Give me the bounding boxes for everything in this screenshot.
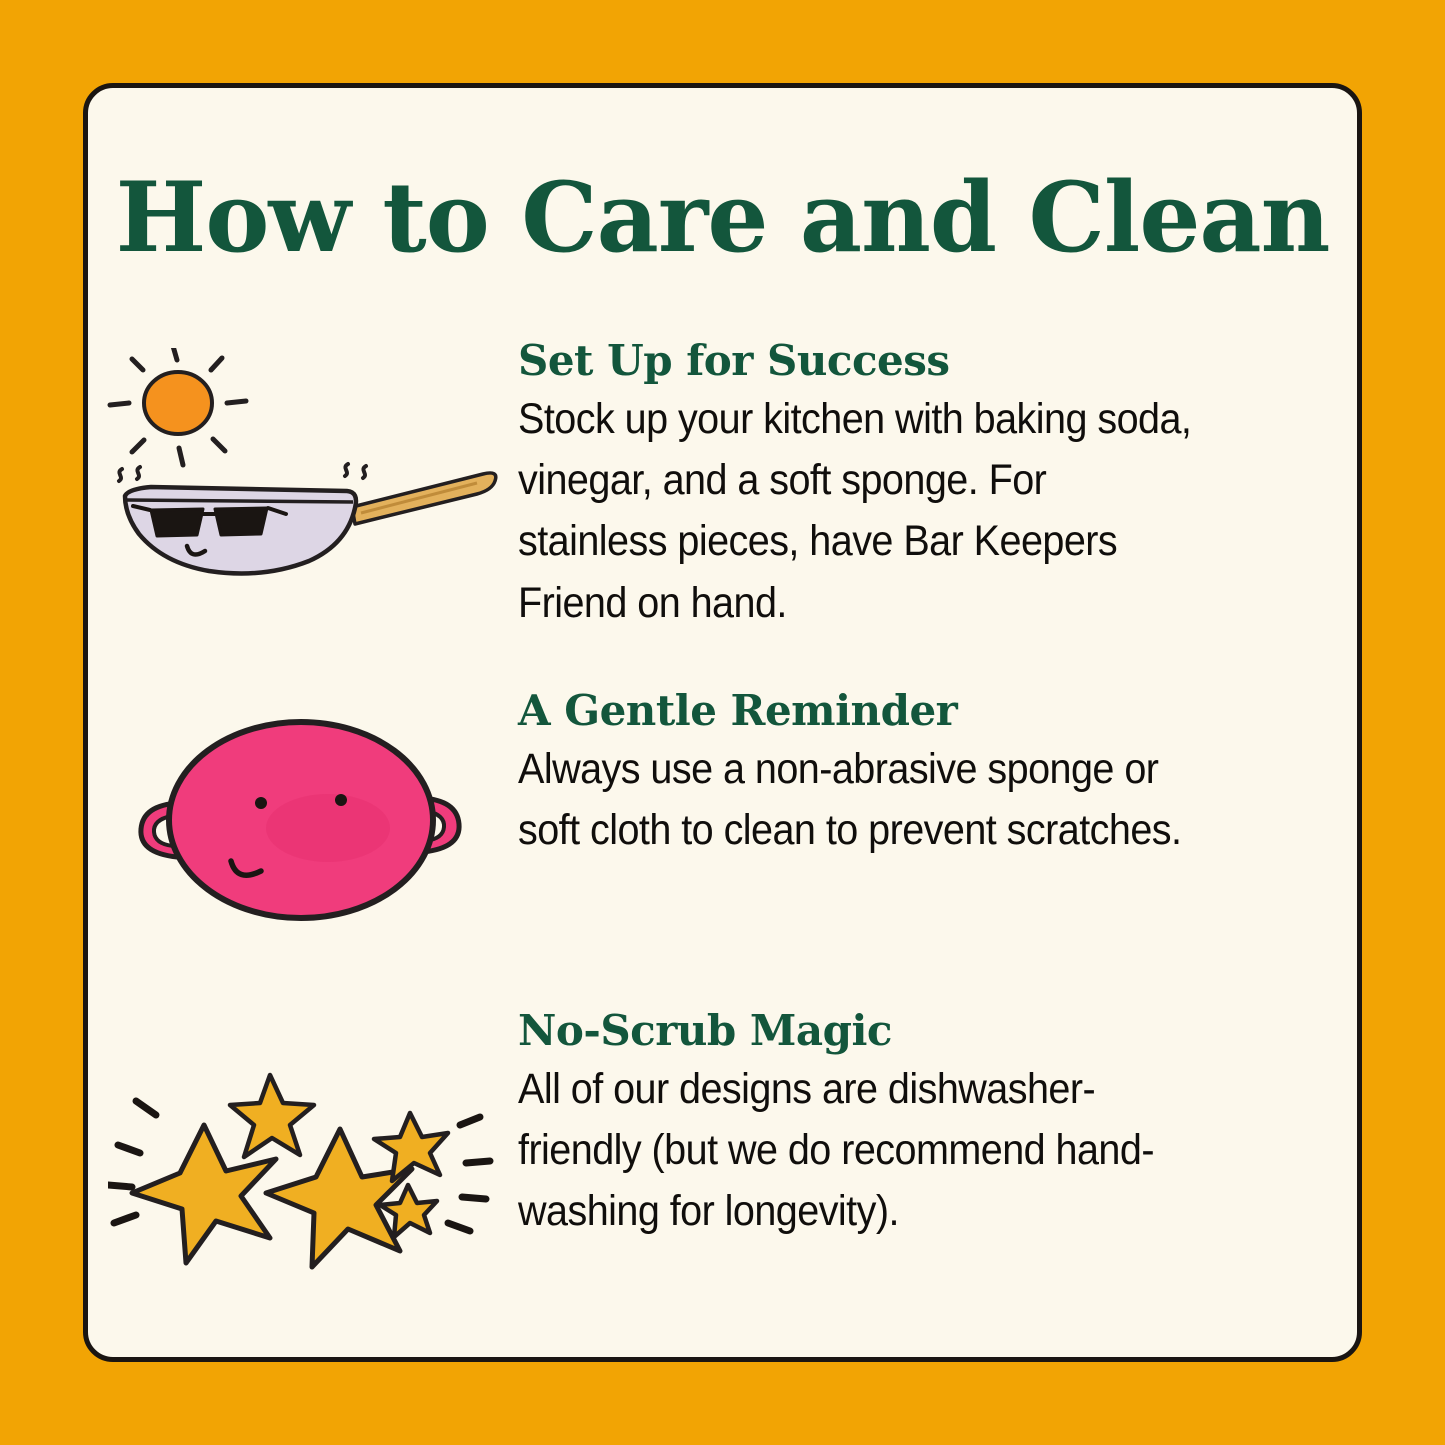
sparkle-dashes-right: [448, 1117, 490, 1231]
section-body: Stock up your kitchen with baking soda, …: [518, 389, 1199, 633]
stars-svg: [108, 1063, 498, 1273]
page-title-text: How to Care and Clean: [116, 170, 1330, 266]
poster-canvas: How to Care and Clean: [0, 0, 1445, 1445]
list-item: A Gentle Reminder Always use a non-abras…: [88, 688, 1357, 1008]
care-instructions-card: How to Care and Clean: [83, 83, 1362, 1362]
sun-icon: [110, 348, 246, 465]
steam-squiggle-right: [345, 464, 366, 478]
pot-shading: [266, 794, 390, 862]
list-item: Set Up for Success Stock up your kitchen…: [88, 338, 1357, 688]
section-text: Set Up for Success Stock up your kitchen…: [518, 338, 1357, 634]
instruction-list: Set Up for Success Stock up your kitchen…: [88, 338, 1357, 1308]
frying-pan-svg: [103, 348, 503, 598]
section-text: A Gentle Reminder Always use a non-abras…: [518, 688, 1357, 861]
page-title: How to Care and Clean: [88, 170, 1357, 266]
section-heading: No-Scrub Magic: [518, 1008, 1297, 1053]
pink-pot-svg: [113, 698, 493, 938]
pink-casserole-pot-icon: [88, 688, 518, 938]
pot-eye-right: [335, 794, 347, 806]
list-item: No-Scrub Magic All of our designs are di…: [88, 1008, 1357, 1308]
sparkle-dashes-left: [108, 1101, 156, 1223]
pan-handle: [352, 473, 496, 524]
sparkling-stars-icon: [88, 1008, 518, 1273]
section-heading: A Gentle Reminder: [518, 688, 1297, 733]
star-small-top: [230, 1075, 314, 1157]
section-body: Always use a non-abrasive sponge or soft…: [518, 739, 1199, 861]
section-body: All of our designs are dishwasher-friend…: [518, 1059, 1199, 1242]
pot-eye-left: [255, 797, 267, 809]
frying-pan-with-sunglasses-icon: [88, 338, 518, 598]
steam-squiggle-left: [119, 467, 140, 481]
section-text: No-Scrub Magic All of our designs are di…: [518, 1008, 1357, 1243]
section-heading: Set Up for Success: [518, 338, 1297, 383]
